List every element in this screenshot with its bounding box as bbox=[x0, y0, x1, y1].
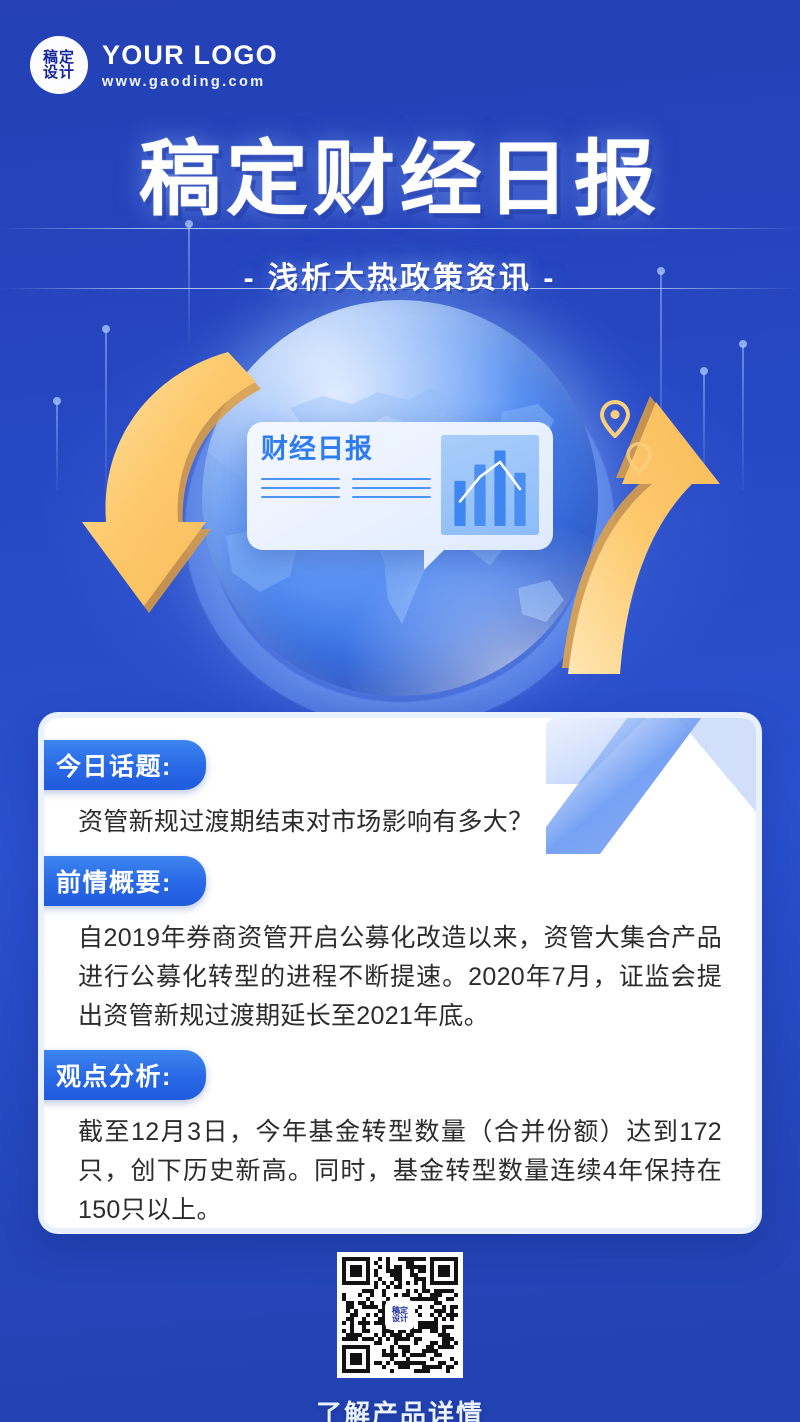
qr-code-icon[interactable]: 稿定 设计 bbox=[337, 1252, 463, 1378]
speech-bubble-icon: 财经日报 bbox=[247, 422, 553, 550]
bubble-title: 财经日报 bbox=[261, 435, 431, 465]
content-card: 今日话题: 资管新规过渡期结束对市场影响有多大？ 前情概要: 自2019年券商资… bbox=[38, 712, 762, 1234]
gaoding-logo-icon: 稿定 设计 bbox=[30, 36, 88, 94]
badge-fold bbox=[38, 904, 43, 915]
logo-badge-line1: 稿定 bbox=[43, 50, 75, 65]
map-pin-icon-secondary bbox=[626, 442, 652, 479]
card-section-analysis: 观点分析: 截至12月3日，今年基金转型数量（合并份额）达到172只，创下历史新… bbox=[78, 1050, 722, 1230]
section-label-analysis: 观点分析: bbox=[38, 1050, 206, 1100]
poster-canvas: 稿定 设计 YOUR LOGO www.gaoding.com 稿定财经日报 -… bbox=[0, 0, 800, 1422]
qr-center-line2: 设计 bbox=[392, 1315, 408, 1323]
qr-center-logo: 稿定 设计 bbox=[385, 1300, 415, 1330]
bubble-text-lines bbox=[261, 478, 431, 498]
logo-badge-line2: 设计 bbox=[43, 65, 75, 80]
curved-arrow-up-icon bbox=[544, 388, 724, 683]
page-title: 稿定财经日报 bbox=[0, 112, 800, 231]
badge-fold bbox=[38, 788, 43, 799]
section-label-background: 前情概要: bbox=[38, 856, 206, 906]
badge-fold bbox=[38, 1098, 43, 1109]
page-subtitle: - 浅析大热政策资讯 - bbox=[0, 253, 800, 297]
brand-url: www.gaoding.com bbox=[102, 74, 278, 90]
section-text-background: 自2019年券商资管开启公募化改造以来，资管大集合产品进行公募化转型的进程不断提… bbox=[78, 919, 722, 1036]
card-sections: 今日话题: 资管新规过渡期结束对市场影响有多大？ 前情概要: 自2019年券商资… bbox=[44, 718, 756, 1230]
map-pin-icon bbox=[600, 400, 630, 443]
title-block: 稿定财经日报 - 浅析大热政策资讯 - bbox=[0, 112, 800, 301]
mini-bar-chart bbox=[441, 435, 539, 535]
brand-name: YOUR LOGO bbox=[102, 40, 278, 71]
section-label-topic: 今日话题: bbox=[38, 740, 206, 790]
brand-header[interactable]: 稿定 设计 YOUR LOGO www.gaoding.com bbox=[30, 36, 278, 94]
card-section-background: 前情概要: 自2019年券商资管开启公募化改造以来，资管大集合产品进行公募化转型… bbox=[78, 856, 722, 1036]
card-section-topic: 今日话题: 资管新规过渡期结束对市场影响有多大？ bbox=[78, 740, 722, 842]
footer-qr-block[interactable]: 稿定 设计 了解产品详情 bbox=[316, 1252, 484, 1422]
section-text-topic: 资管新规过渡期结束对市场影响有多大？ bbox=[78, 803, 722, 842]
hero-illustration: 财经日报 bbox=[0, 300, 800, 730]
section-text-analysis: 截至12月3日，今年基金转型数量（合并份额）达到172只，创下历史新高。同时，基… bbox=[78, 1113, 722, 1230]
footer-caption: 了解产品详情 bbox=[316, 1394, 484, 1422]
